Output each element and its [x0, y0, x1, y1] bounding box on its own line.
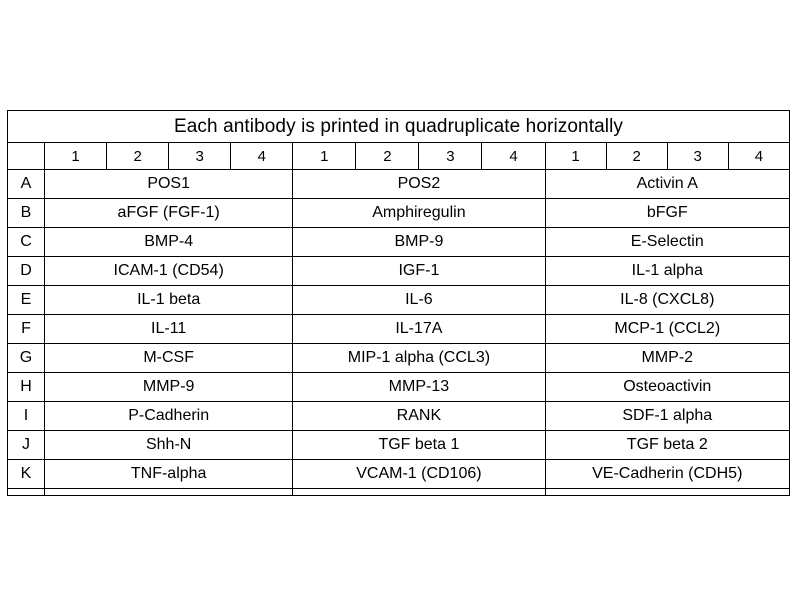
stub-cell-block-1	[45, 489, 293, 496]
antibody-cell-a3: Activin A	[545, 170, 789, 199]
row-label-d: D	[8, 257, 45, 286]
table-title: Each antibody is printed in quadruplicat…	[8, 111, 790, 143]
column-header-b3-4: 4	[728, 143, 789, 170]
table-title-row: Each antibody is printed in quadruplicat…	[8, 111, 790, 143]
table-row: C BMP-4 BMP-9 E-Selectin	[8, 228, 790, 257]
column-header-b2-1: 1	[293, 143, 356, 170]
page-root: Each antibody is printed in quadruplicat…	[0, 0, 800, 600]
antibody-cell-f1: IL-11	[45, 315, 293, 344]
table-body: Each antibody is printed in quadruplicat…	[8, 111, 790, 496]
column-header-b1-1: 1	[45, 143, 107, 170]
table-row: G M-CSF MIP-1 alpha (CCL3) MMP-2	[8, 344, 790, 373]
antibody-cell-g2: MIP-1 alpha (CCL3)	[293, 344, 545, 373]
row-label-e: E	[8, 286, 45, 315]
antibody-cell-e1: IL-1 beta	[45, 286, 293, 315]
row-label-c: C	[8, 228, 45, 257]
stub-cell-rowlabel	[8, 489, 45, 496]
column-header-row: 1 2 3 4 1 2 3 4 1 2 3 4	[8, 143, 790, 170]
column-header-b2-2: 2	[356, 143, 419, 170]
antibody-cell-c2: BMP-9	[293, 228, 545, 257]
antibody-cell-d1: ICAM-1 (CD54)	[45, 257, 293, 286]
antibody-cell-e3: IL-8 (CXCL8)	[545, 286, 789, 315]
column-header-b1-4: 4	[231, 143, 293, 170]
antibody-cell-i3: SDF-1 alpha	[545, 402, 789, 431]
antibody-cell-h3: Osteoactivin	[545, 373, 789, 402]
table-row: I P-Cadherin RANK SDF-1 alpha	[8, 402, 790, 431]
row-label-g: G	[8, 344, 45, 373]
column-header-b3-2: 2	[606, 143, 667, 170]
column-header-b2-3: 3	[419, 143, 482, 170]
antibody-array-map-table: Each antibody is printed in quadruplicat…	[7, 110, 790, 496]
antibody-cell-b3: bFGF	[545, 199, 789, 228]
antibody-cell-g1: M-CSF	[45, 344, 293, 373]
row-label-a: A	[8, 170, 45, 199]
row-label-j: J	[8, 431, 45, 460]
antibody-cell-k2: VCAM-1 (CD106)	[293, 460, 545, 489]
antibody-cell-d3: IL-1 alpha	[545, 257, 789, 286]
table-row: K TNF-alpha VCAM-1 (CD106) VE-Cadherin (…	[8, 460, 790, 489]
antibody-cell-h2: MMP-13	[293, 373, 545, 402]
row-label-i: I	[8, 402, 45, 431]
column-header-b1-3: 3	[169, 143, 231, 170]
column-header-b3-3: 3	[667, 143, 728, 170]
antibody-cell-i1: P-Cadherin	[45, 402, 293, 431]
row-label-h: H	[8, 373, 45, 402]
column-header-b1-2: 2	[107, 143, 169, 170]
table-row: J Shh-N TGF beta 1 TGF beta 2	[8, 431, 790, 460]
table-row: E IL-1 beta IL-6 IL-8 (CXCL8)	[8, 286, 790, 315]
antibody-cell-c1: BMP-4	[45, 228, 293, 257]
column-header-b3-1: 1	[545, 143, 606, 170]
antibody-cell-j2: TGF beta 1	[293, 431, 545, 460]
row-label-k: K	[8, 460, 45, 489]
header-corner-cell	[8, 143, 45, 170]
antibody-cell-g3: MMP-2	[545, 344, 789, 373]
table-row: F IL-11 IL-17A MCP-1 (CCL2)	[8, 315, 790, 344]
table-stub-row	[8, 489, 790, 496]
antibody-cell-f2: IL-17A	[293, 315, 545, 344]
antibody-cell-h1: MMP-9	[45, 373, 293, 402]
antibody-cell-b2: Amphiregulin	[293, 199, 545, 228]
row-label-f: F	[8, 315, 45, 344]
stub-cell-block-3	[545, 489, 789, 496]
antibody-cell-j1: Shh-N	[45, 431, 293, 460]
antibody-cell-j3: TGF beta 2	[545, 431, 789, 460]
antibody-cell-a2: POS2	[293, 170, 545, 199]
table-row: H MMP-9 MMP-13 Osteoactivin	[8, 373, 790, 402]
column-header-b2-4: 4	[482, 143, 545, 170]
antibody-cell-d2: IGF-1	[293, 257, 545, 286]
antibody-cell-k3: VE-Cadherin (CDH5)	[545, 460, 789, 489]
antibody-cell-b1: aFGF (FGF-1)	[45, 199, 293, 228]
antibody-cell-k1: TNF-alpha	[45, 460, 293, 489]
table-row: A POS1 POS2 Activin A	[8, 170, 790, 199]
row-label-b: B	[8, 199, 45, 228]
table-row: D ICAM-1 (CD54) IGF-1 IL-1 alpha	[8, 257, 790, 286]
antibody-cell-a1: POS1	[45, 170, 293, 199]
antibody-cell-f3: MCP-1 (CCL2)	[545, 315, 789, 344]
antibody-cell-c3: E-Selectin	[545, 228, 789, 257]
antibody-cell-e2: IL-6	[293, 286, 545, 315]
table-row: B aFGF (FGF-1) Amphiregulin bFGF	[8, 199, 790, 228]
stub-cell-block-2	[293, 489, 545, 496]
antibody-cell-i2: RANK	[293, 402, 545, 431]
